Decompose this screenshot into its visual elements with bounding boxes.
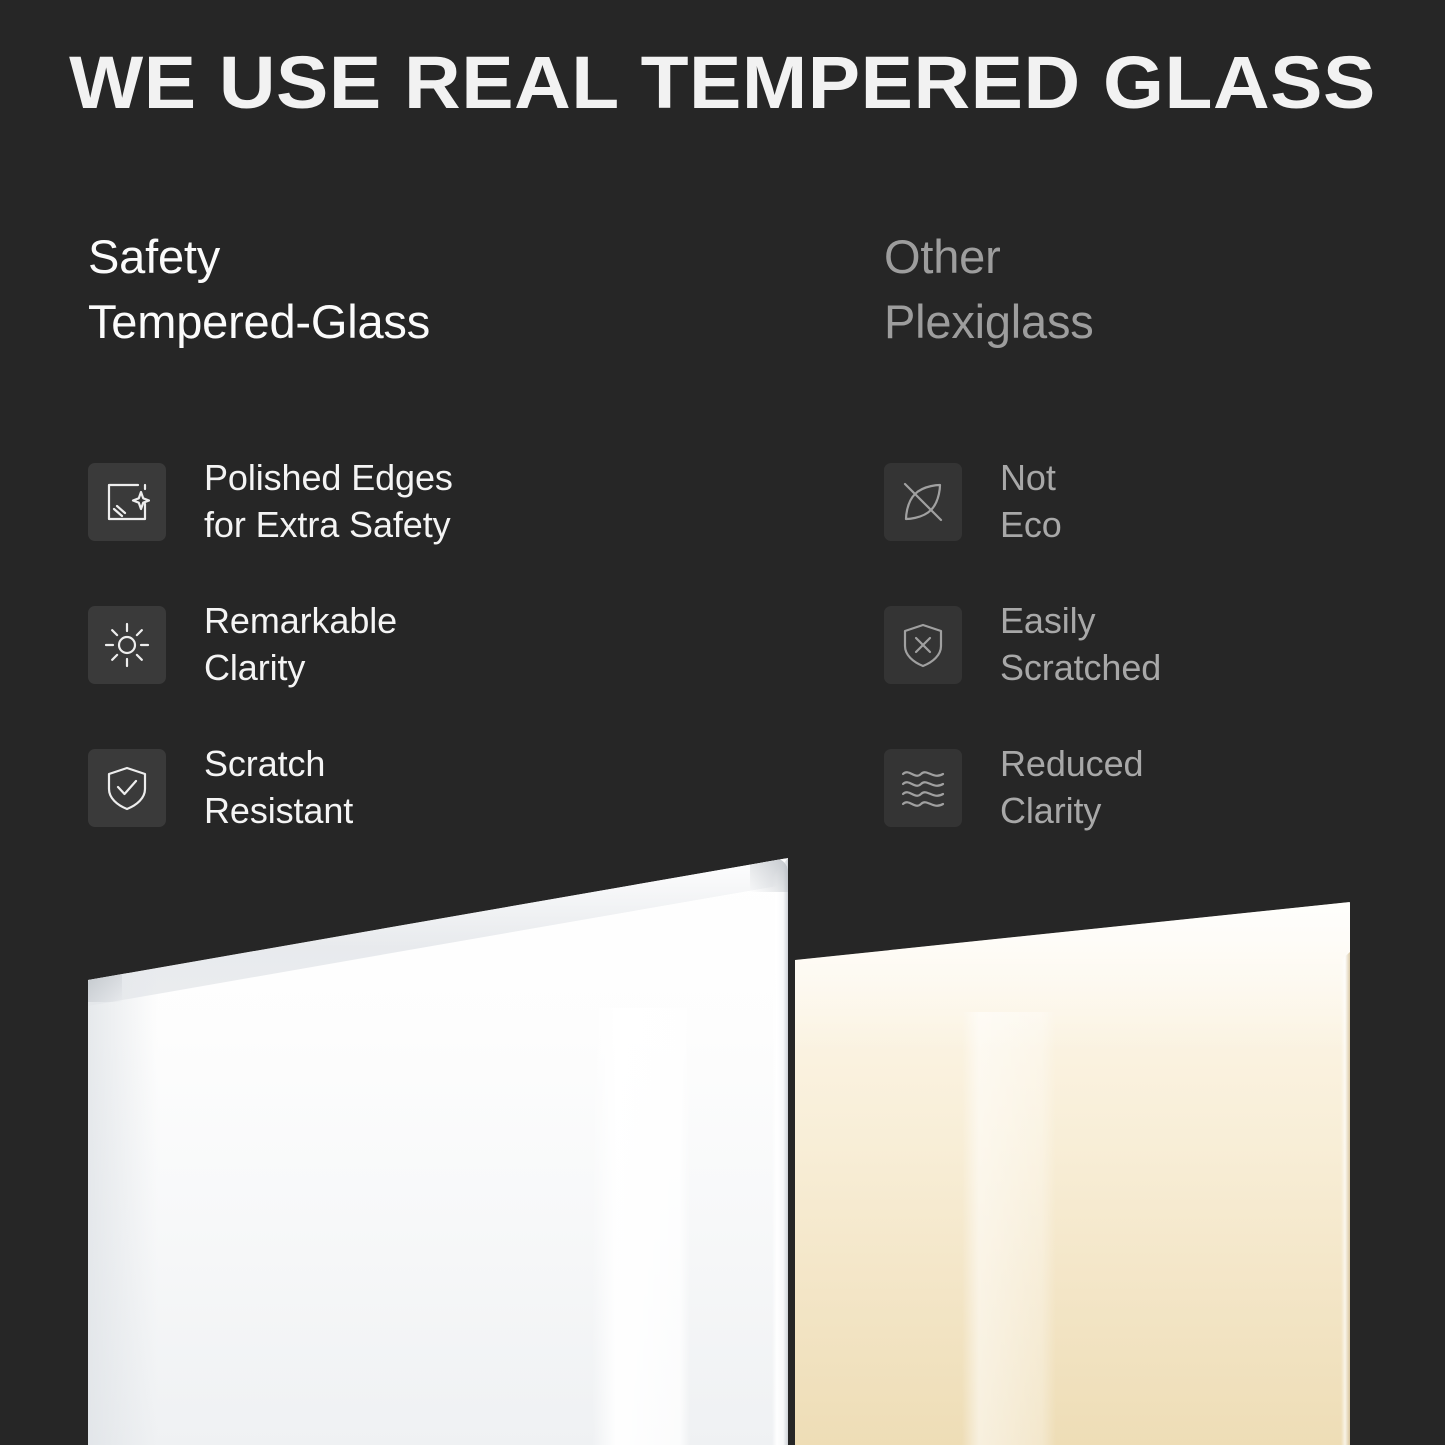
feature-list-left: Polished Edges for Extra Safety Remarkab…: [88, 430, 788, 859]
tempered-glass-panel: [88, 858, 788, 1445]
tempered-glass-top-bevel: [88, 858, 788, 1445]
plexiglass-top-glow: [795, 902, 1350, 1052]
page-title: WE USE REAL TEMPERED GLASS: [0, 40, 1445, 125]
plexiglass-reflection: [962, 1012, 1056, 1445]
leaf-crossed-out-icon: [884, 463, 962, 541]
tempered-glass-top-edge: [88, 858, 788, 1008]
tempered-glass-corner-top-right: [750, 858, 788, 892]
feature-scratch-resistant: Scratch Resistant: [88, 716, 788, 859]
column-title-left: Safety Tempered-Glass: [88, 225, 788, 355]
feature-not-eco: Not Eco: [884, 430, 1424, 573]
feature-label: Remarkable Clarity: [204, 598, 397, 690]
tempered-glass-left-shading: [88, 858, 158, 1445]
comparison-columns: Safety Tempered-Glass Polished Edges for…: [0, 225, 1445, 845]
tempered-glass-reflection: [592, 1008, 690, 1445]
promo-graphic: WE USE REAL TEMPERED GLASS Safety Temper…: [0, 0, 1445, 1445]
feature-remarkable-clarity: Remarkable Clarity: [88, 573, 788, 716]
feature-reduced-clarity: Reduced Clarity: [884, 716, 1424, 859]
feature-easily-scratched: Easily Scratched: [884, 573, 1424, 716]
feature-label: Easily Scratched: [1000, 598, 1161, 690]
feature-label: Scratch Resistant: [204, 741, 353, 833]
glass-panels-illustration: [0, 840, 1445, 1445]
shield-check-icon: [88, 749, 166, 827]
feature-label: Polished Edges for Extra Safety: [204, 455, 453, 547]
sun-clarity-icon: [88, 606, 166, 684]
tempered-glass-corner-top-left: [88, 968, 122, 1002]
wavy-lines-icon: [884, 749, 962, 827]
feature-label: Reduced Clarity: [1000, 741, 1143, 833]
plexiglass-panel: [795, 902, 1350, 1445]
feature-list-right: Not Eco Easily Scratched: [884, 430, 1424, 859]
column-title-right: Other Plexiglass: [884, 225, 1424, 355]
shield-x-icon: [884, 606, 962, 684]
feature-polished-edges: Polished Edges for Extra Safety: [88, 430, 788, 573]
tempered-glass-right-edge: [772, 858, 788, 1445]
plexiglass-right-edge: [1341, 902, 1350, 1445]
column-plexiglass: Other Plexiglass Not Eco: [884, 225, 1424, 355]
column-tempered-glass: Safety Tempered-Glass Polished Edges for…: [88, 225, 788, 355]
feature-label: Not Eco: [1000, 455, 1062, 547]
polished-glass-sparkle-icon: [88, 463, 166, 541]
